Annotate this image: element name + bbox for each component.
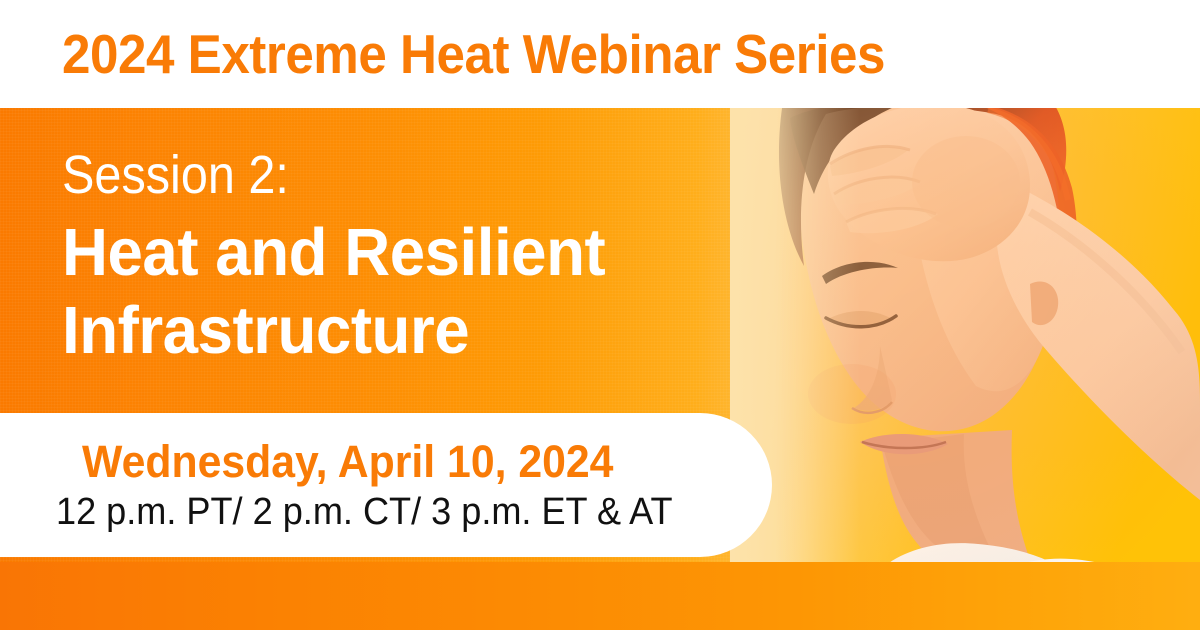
headline-block: Session 2: Heat and Resilient Infrastruc… — [62, 146, 762, 370]
bottom-accent-band — [0, 562, 1200, 630]
heat-stress-photo — [730, 108, 1200, 630]
webinar-promo-banner: 2024 Extreme Heat Webinar Series — [0, 0, 1200, 630]
event-date: Wednesday, April 10, 2024 — [82, 437, 738, 487]
series-title: 2024 Extreme Heat Webinar Series — [62, 25, 885, 83]
header-bar: 2024 Extreme Heat Webinar Series — [0, 0, 1200, 108]
event-time: 12 p.m. PT/ 2 p.m. CT/ 3 p.m. ET & AT — [56, 490, 736, 534]
session-label: Session 2: — [62, 146, 692, 204]
date-time-pill: Wednesday, April 10, 2024 12 p.m. PT/ 2 … — [0, 413, 772, 557]
main-headline: Heat and Resilient Infrastructure — [62, 214, 727, 370]
headline-line-1: Heat and Resilient — [62, 214, 727, 292]
headline-line-2: Infrastructure — [62, 292, 727, 370]
